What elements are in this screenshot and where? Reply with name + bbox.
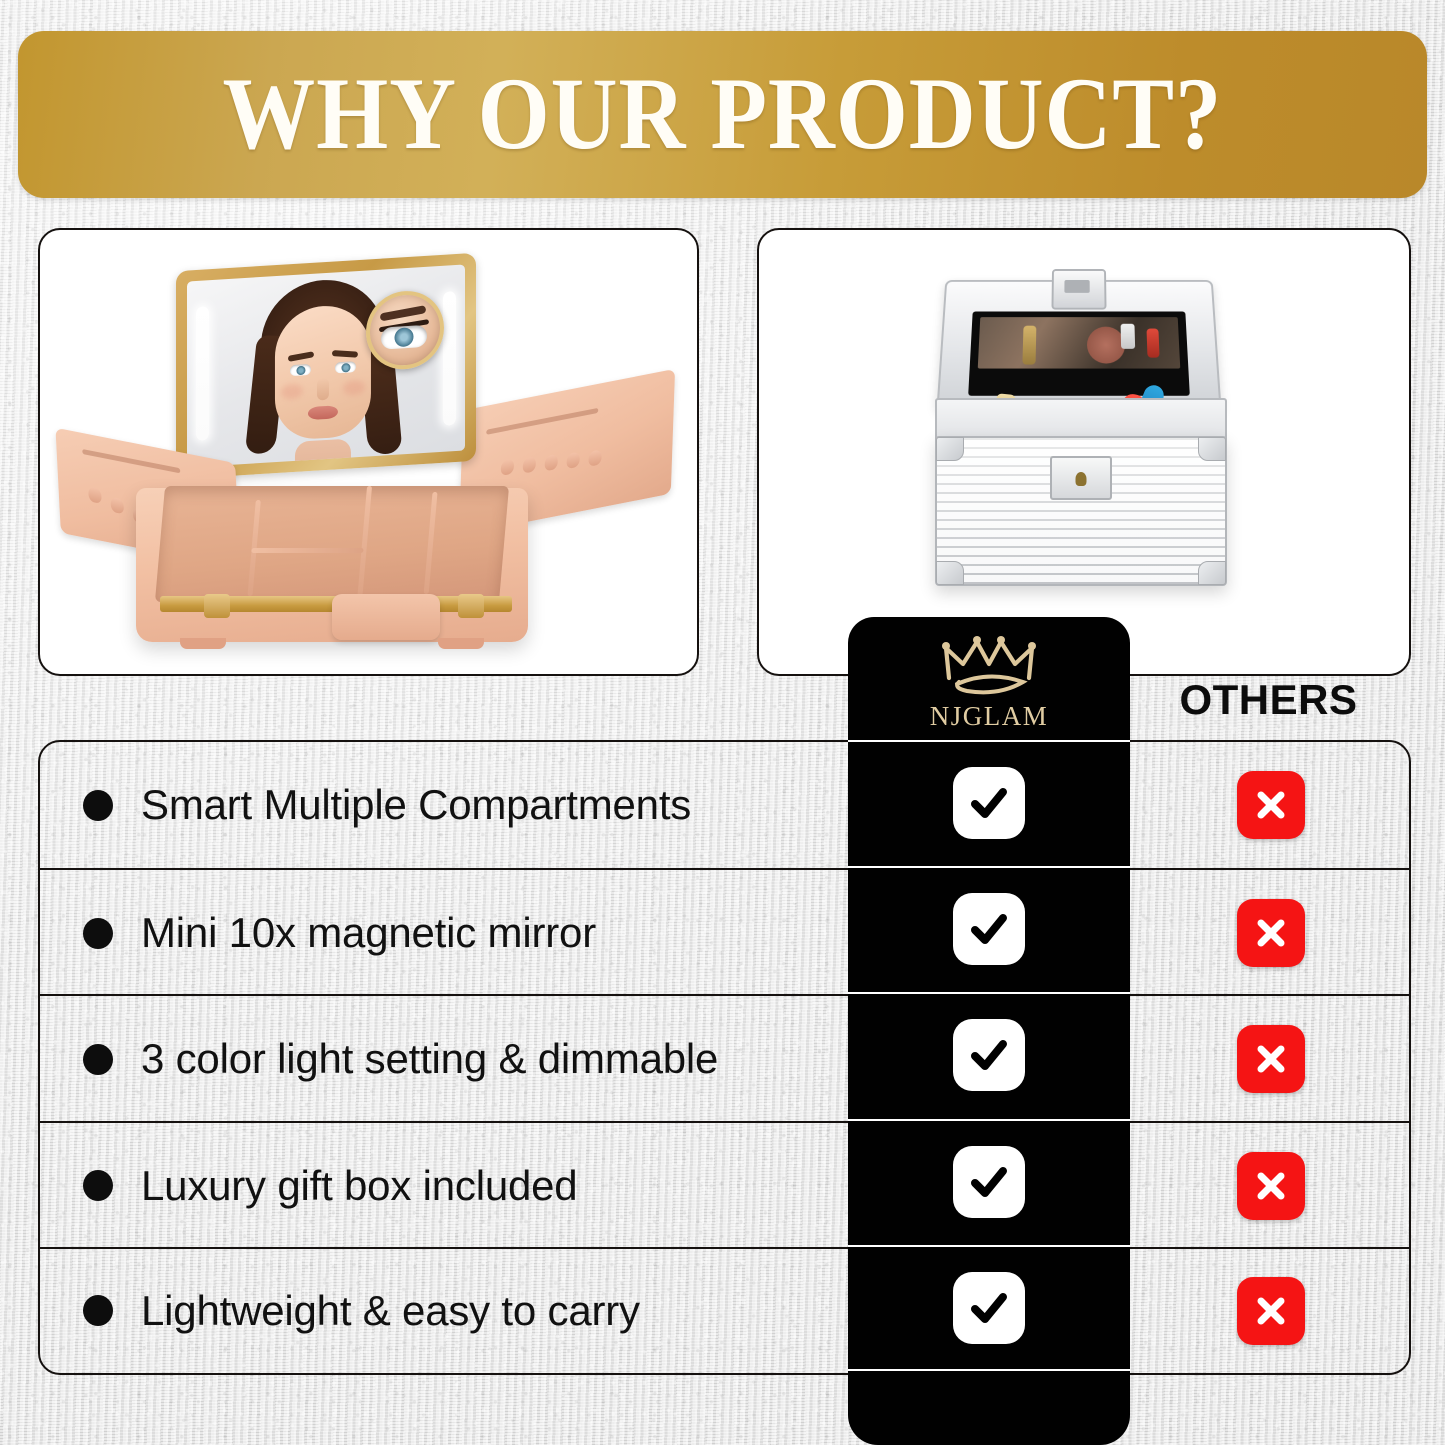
others-cell	[1132, 1152, 1409, 1220]
feature-label: Mini 10x magnetic mirror	[141, 909, 596, 957]
feature-cell: 3 color light setting & dimmable	[40, 1035, 850, 1083]
table-row: Smart Multiple Compartments	[40, 742, 1409, 868]
case-compartments	[155, 486, 509, 602]
led-strip-right	[443, 291, 456, 426]
njglam-column-header: NJGLAM	[848, 617, 1130, 740]
bullet-icon	[83, 1170, 113, 1201]
table-row: Mini 10x magnetic mirror	[40, 868, 1409, 996]
others-cell	[1132, 1025, 1409, 1093]
case-handle	[332, 594, 440, 640]
feature-cell: Luxury gift box included	[40, 1162, 850, 1210]
cross-icon	[1237, 1277, 1305, 1345]
feature-cell: Lightweight & easy to carry	[40, 1287, 850, 1335]
case-base	[136, 488, 528, 642]
others-cell	[1132, 899, 1409, 967]
competitor-case-body	[935, 436, 1227, 586]
bullet-icon	[83, 918, 113, 949]
product-photo-competitor	[757, 228, 1411, 676]
cross-icon	[1237, 1152, 1305, 1220]
cross-icon	[1237, 1025, 1305, 1093]
header-banner: WHY OUR PRODUCT?	[18, 31, 1427, 198]
feature-cell: Smart Multiple Compartments	[40, 781, 850, 829]
feature-cell: Mini 10x magnetic mirror	[40, 909, 850, 957]
njglam-brand-column: NJGLAM	[848, 617, 1130, 1445]
njglam-case-illustration	[40, 230, 697, 674]
table-row: Lightweight & easy to carry	[40, 1247, 1409, 1373]
case-clasp-left	[204, 594, 230, 618]
table-row: Luxury gift box included	[40, 1121, 1409, 1249]
njglam-cell-row4	[848, 1119, 1130, 1245]
led-mirror-lid	[176, 253, 476, 479]
njglam-cell-row1	[848, 740, 1130, 866]
others-cell	[1132, 771, 1409, 839]
brand-name-label: NJGLAM	[930, 703, 1049, 730]
why-our-product-infographic: WHY OUR PRODUCT?	[0, 0, 1445, 1445]
others-cell	[1132, 1277, 1409, 1345]
njglam-cell-row2	[848, 866, 1130, 992]
table-row: 3 color light setting & dimmable	[40, 994, 1409, 1122]
comparison-table: Smart Multiple Compartments Mini 10x mag…	[38, 740, 1411, 1375]
feature-label: Smart Multiple Compartments	[141, 781, 691, 829]
cross-icon	[1237, 899, 1305, 967]
crown-icon	[937, 634, 1041, 701]
mirror-surface	[187, 264, 465, 467]
check-icon	[953, 893, 1025, 965]
check-icon	[953, 1019, 1025, 1091]
competitor-case-illustration	[759, 230, 1409, 674]
product-photo-njglam	[38, 228, 699, 676]
check-icon	[953, 1272, 1025, 1344]
njglam-cell-row3	[848, 992, 1130, 1118]
page-title: WHY OUR PRODUCT?	[223, 63, 1223, 166]
competitor-lock	[1050, 456, 1112, 500]
check-icon	[953, 767, 1025, 839]
feature-label: Luxury gift box included	[141, 1162, 577, 1210]
cross-icon	[1237, 771, 1305, 839]
feature-label: Lightweight & easy to carry	[141, 1287, 640, 1335]
check-icon	[953, 1146, 1025, 1218]
led-strip-left	[196, 306, 209, 441]
njglam-check-marks	[848, 740, 1130, 1445]
case-clasp-right	[458, 594, 484, 618]
competitor-top-latch	[1051, 269, 1106, 309]
bullet-icon	[83, 1295, 113, 1326]
njglam-cell-row5	[848, 1245, 1130, 1371]
feature-label: 3 color light setting & dimmable	[141, 1035, 718, 1083]
bullet-icon	[83, 790, 113, 821]
column-header-others: OTHERS	[1130, 672, 1407, 728]
bullet-icon	[83, 1044, 113, 1075]
